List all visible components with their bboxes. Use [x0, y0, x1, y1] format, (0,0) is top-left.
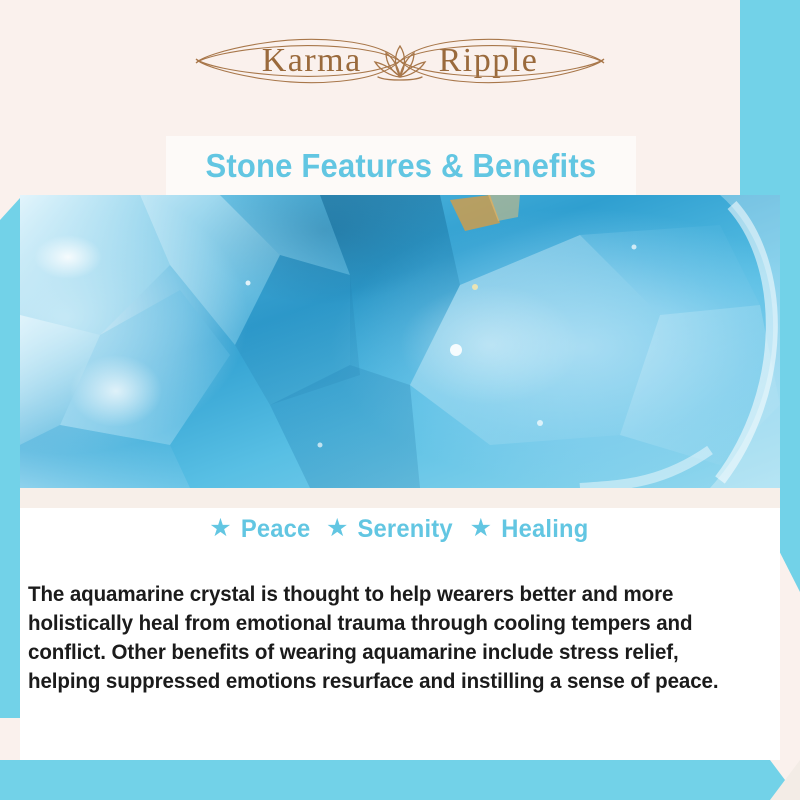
star-icon: ★ [470, 513, 492, 543]
title-banner: Stone Features & Benefits [166, 136, 636, 196]
accent-band-left [0, 198, 20, 718]
stone-photo-art [20, 195, 780, 488]
accent-band-bottom [0, 760, 800, 800]
keyword-row: ★Peace★Serenity★Healing [20, 514, 780, 544]
poster-root: Karma Ripple [0, 0, 800, 800]
crystal-facets-art [20, 195, 780, 488]
brand-name-left: Karma [262, 42, 362, 80]
photo-seam [20, 488, 780, 508]
brand-logo: Karma Ripple [0, 38, 800, 84]
brand-logo-inner: Karma Ripple [250, 38, 551, 84]
star-icon: ★ [326, 513, 348, 543]
stone-photo: Aquamarine [20, 195, 780, 488]
keyword-healing: Healing [501, 515, 588, 544]
lotus-icon [368, 38, 432, 84]
brand-name-right: Ripple [439, 42, 539, 80]
keyword-serenity: Serenity [358, 515, 453, 544]
header: Karma Ripple [0, 0, 800, 136]
star-icon: ★ [209, 513, 231, 543]
content-card: ★Peace★Serenity★Healing The aquamarine c… [20, 508, 780, 760]
page-title: Stone Features & Benefits [206, 147, 597, 185]
keyword-peace: Peace [240, 515, 310, 544]
body-paragraph: The aquamarine crystal is thought to hel… [28, 580, 742, 696]
